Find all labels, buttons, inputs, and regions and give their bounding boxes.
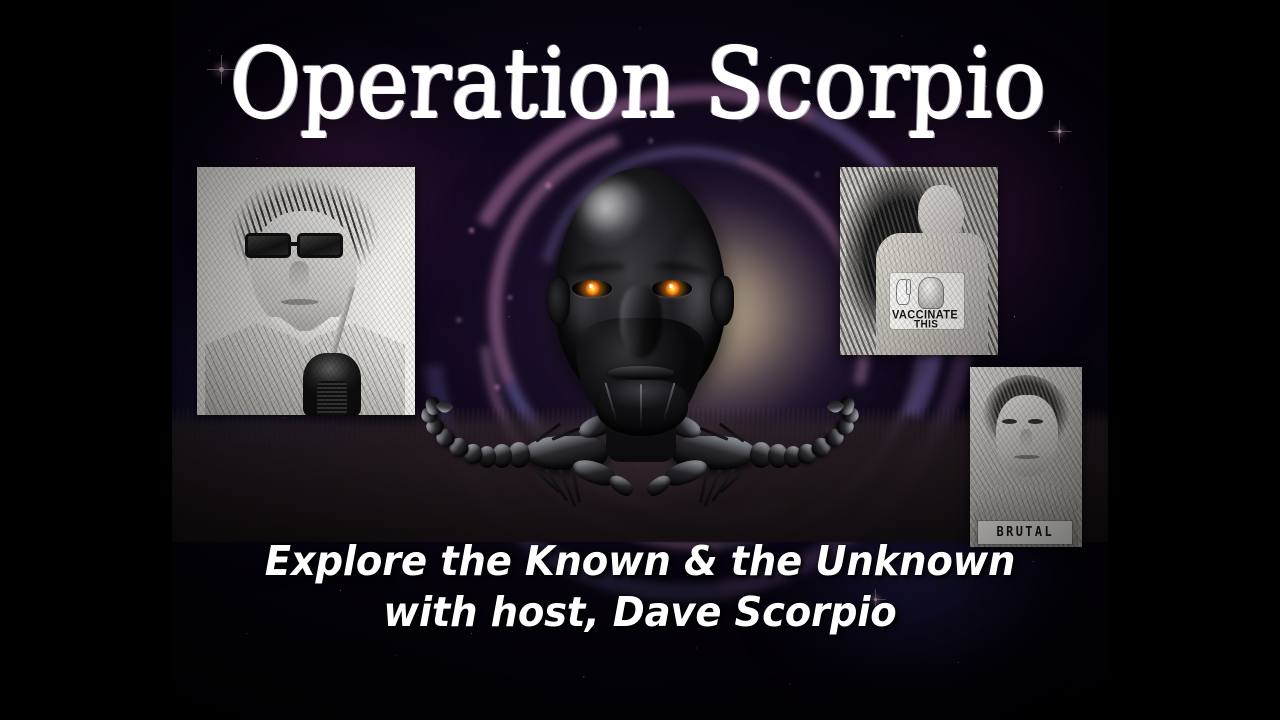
photo-vaccinate-content: VACCINATE THIS [840, 167, 998, 355]
head-ear-left [546, 276, 570, 326]
photo-host-content [197, 167, 415, 415]
host-sketch-texture [197, 167, 415, 415]
head-chin-plate [596, 380, 688, 436]
head-chin-seam [640, 384, 642, 428]
photo-vaccinate-this: VACCINATE THIS [840, 167, 998, 355]
tagline-line-2: with host, Dave Scorpio [200, 587, 1080, 638]
letterbox-bar-left [0, 0, 172, 720]
tagline-line-1: Explore the Known & the Unknown [265, 537, 1016, 585]
show-tagline: Explore the Known & the Unknown with hos… [200, 536, 1080, 638]
chrome-android-head [510, 168, 770, 498]
head-nose [620, 286, 662, 358]
letterbox-bar-right [1108, 0, 1280, 720]
head-lips [608, 366, 674, 379]
photo-host-portrait [197, 167, 415, 415]
video-frame: VACCINATE THIS BRUTAL [0, 0, 1280, 720]
head-ear-right [710, 276, 734, 326]
show-title: Operation Scorpio [172, 36, 1108, 132]
glowing-iris-right [665, 281, 680, 296]
head-highlight [580, 182, 654, 238]
head-eye-left [572, 280, 612, 297]
glowing-iris-left [585, 281, 600, 296]
photo-brutal-mugshot: BRUTAL [970, 367, 1082, 547]
brutal-sketch-texture [970, 367, 1082, 547]
vaccinate-sketch-texture [840, 167, 998, 355]
artwork-canvas: VACCINATE THIS BRUTAL [172, 0, 1108, 720]
photo-brutal-content: BRUTAL [970, 367, 1082, 547]
head-eye-right [652, 280, 692, 297]
